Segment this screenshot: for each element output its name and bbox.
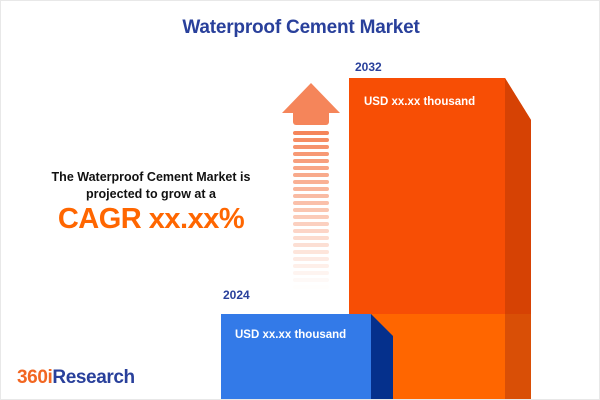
arrow-stripe — [293, 173, 329, 177]
infographic-canvas: Waterproof Cement Market The Waterproof … — [0, 0, 600, 400]
arrow-stripe — [293, 236, 329, 240]
arrow-stripe — [293, 159, 329, 163]
blurb-line-2: projected to grow at a — [86, 187, 216, 201]
arrow-neck — [293, 112, 329, 125]
arrow-stripe — [293, 215, 329, 219]
arrow-stripe — [293, 138, 329, 142]
bar-2024-value-label: USD xx.xx thousand — [235, 329, 346, 341]
arrow-stripe — [293, 194, 329, 198]
market-blurb: The Waterproof Cement Market is projecte… — [25, 169, 277, 203]
arrow-stripe — [293, 271, 329, 275]
arrow-stripe — [293, 250, 329, 254]
bar-2024-front — [221, 314, 371, 400]
arrow-stripe — [293, 201, 329, 205]
arrow-stripe — [293, 208, 329, 212]
arrow-head-icon — [282, 83, 340, 113]
bar-2032-value-label: USD xx.xx thousand — [364, 96, 475, 108]
arrow-stripe — [293, 187, 329, 191]
year-label-2032: 2032 — [355, 60, 382, 74]
arrow-stripe — [293, 166, 329, 170]
arrow-stripe — [293, 257, 329, 261]
brand-logo: 360iResearch — [17, 367, 135, 389]
arrow-stripe — [293, 278, 329, 282]
arrow-stripe — [293, 152, 329, 156]
arrow-stripe — [293, 131, 329, 135]
bar-2032-front — [349, 78, 505, 314]
arrow-stripe — [293, 285, 329, 289]
arrow-stripe — [293, 222, 329, 226]
arrow-stripe — [293, 145, 329, 149]
arrow-stripe — [293, 180, 329, 184]
logo-text-orange: 360i — [17, 367, 52, 388]
arrow-stripe — [293, 264, 329, 268]
page-title: Waterproof Cement Market — [1, 17, 600, 39]
logo-text-blue: Research — [52, 367, 134, 388]
arrow-stripe — [293, 229, 329, 233]
year-label-2024: 2024 — [223, 288, 250, 302]
cagr-value: CAGR xx.xx% — [25, 203, 277, 236]
arrow-stripe — [293, 243, 329, 247]
blurb-line-1: The Waterproof Cement Market is — [52, 170, 251, 184]
up-arrow-growth-icon — [282, 83, 340, 298]
bar-2032-side — [505, 78, 531, 314]
